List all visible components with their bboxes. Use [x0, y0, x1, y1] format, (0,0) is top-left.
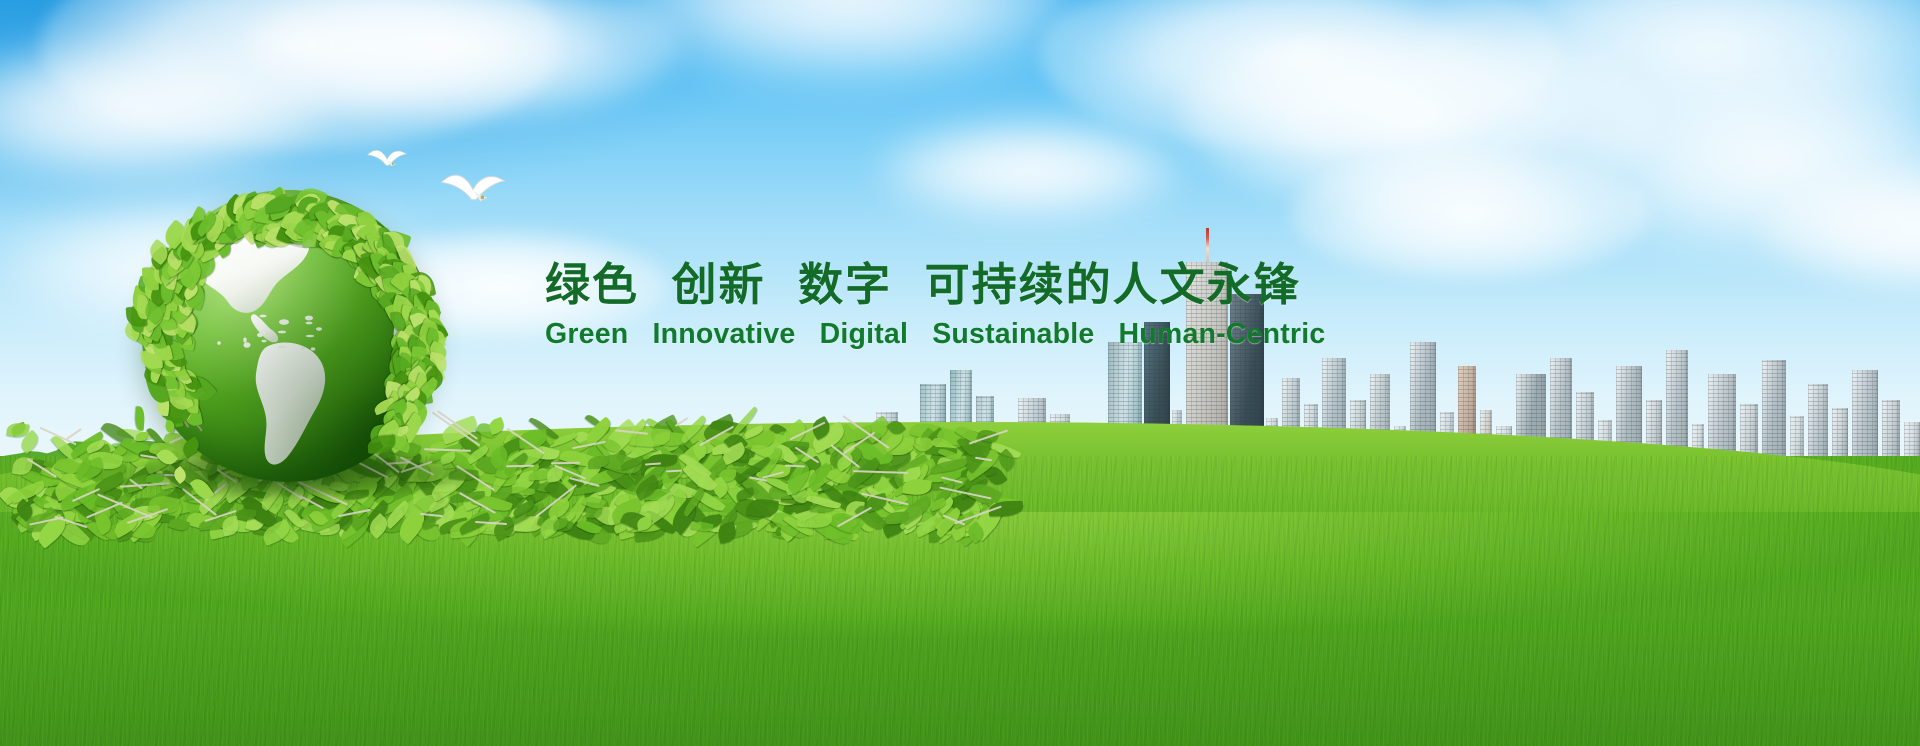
field-shadow	[0, 613, 1920, 746]
headline-cn-part-1: 绿色	[545, 259, 639, 310]
headline-en-part-3: Digital	[820, 318, 909, 350]
globe-sphere	[142, 190, 434, 482]
eco-banner: 绿色 创新 数字 可持续的人文永锋 Green Innovative Digit…	[0, 0, 1920, 746]
headline-en-part-2: Innovative	[653, 318, 796, 350]
headline-cn-part-4: 可持续的人文永锋	[925, 259, 1301, 310]
headline-en-part-5: Human-Centric	[1119, 318, 1326, 350]
headline-chinese: 绿色 创新 数字 可持续的人文永锋	[545, 258, 1285, 311]
headline-en-part-4: Sustainable	[932, 318, 1094, 350]
green-earth-globe	[128, 182, 448, 502]
globe-vine-leaf	[432, 330, 445, 347]
globe-sheen	[142, 190, 434, 482]
headline-english: Green Innovative Digital Sustainable Hum…	[545, 318, 1285, 351]
headline-cn-part-2: 创新	[672, 259, 766, 310]
headline-block: 绿色 创新 数字 可持续的人文永锋 Green Innovative Digit…	[545, 258, 1285, 351]
headline-cn-part-3: 数字	[798, 259, 892, 310]
headline-en-part-1: Green	[545, 318, 628, 350]
